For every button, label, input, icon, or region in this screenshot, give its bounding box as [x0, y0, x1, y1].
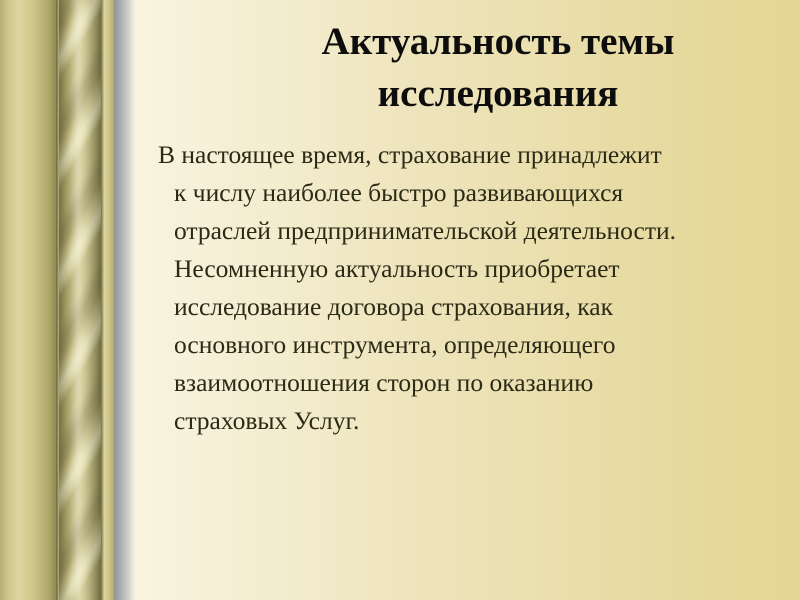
column-gloss-highlight [59, 0, 101, 600]
presentation-slide: Актуальность темы исследования В настоящ… [0, 0, 800, 600]
body-text-line: В настоящее время, страхование принадлеж… [154, 136, 798, 174]
body-text-line: исследование договора страхования, как [154, 288, 798, 326]
body-text-line: Несомненную актуальность приобретает [154, 250, 798, 288]
slide-title-line-2: исследования [200, 68, 796, 120]
column-outer-left-band [0, 0, 56, 600]
column-outer-right-band [104, 0, 114, 600]
body-text-line: основного инструмента, определяющего [154, 326, 798, 364]
body-text-line: к числу наиболее быстро развивающихся [154, 174, 798, 212]
column-cylinder [59, 0, 101, 600]
body-text-line: отраслей предпринимательской деятельност… [154, 212, 798, 250]
body-text-line: взаимоотношения сторон по оказанию [154, 364, 798, 402]
slide-body-text: В настоящее время, страхование принадлеж… [154, 136, 798, 440]
column-drop-shadow [114, 0, 136, 600]
decorative-gold-column [0, 0, 136, 600]
slide-title: Актуальность темы исследования [200, 16, 796, 120]
body-text-line: страховых Услуг. [154, 402, 798, 440]
slide-title-line-1: Актуальность темы [200, 16, 796, 68]
slide-content-area: Актуальность темы исследования В настоящ… [136, 0, 800, 600]
